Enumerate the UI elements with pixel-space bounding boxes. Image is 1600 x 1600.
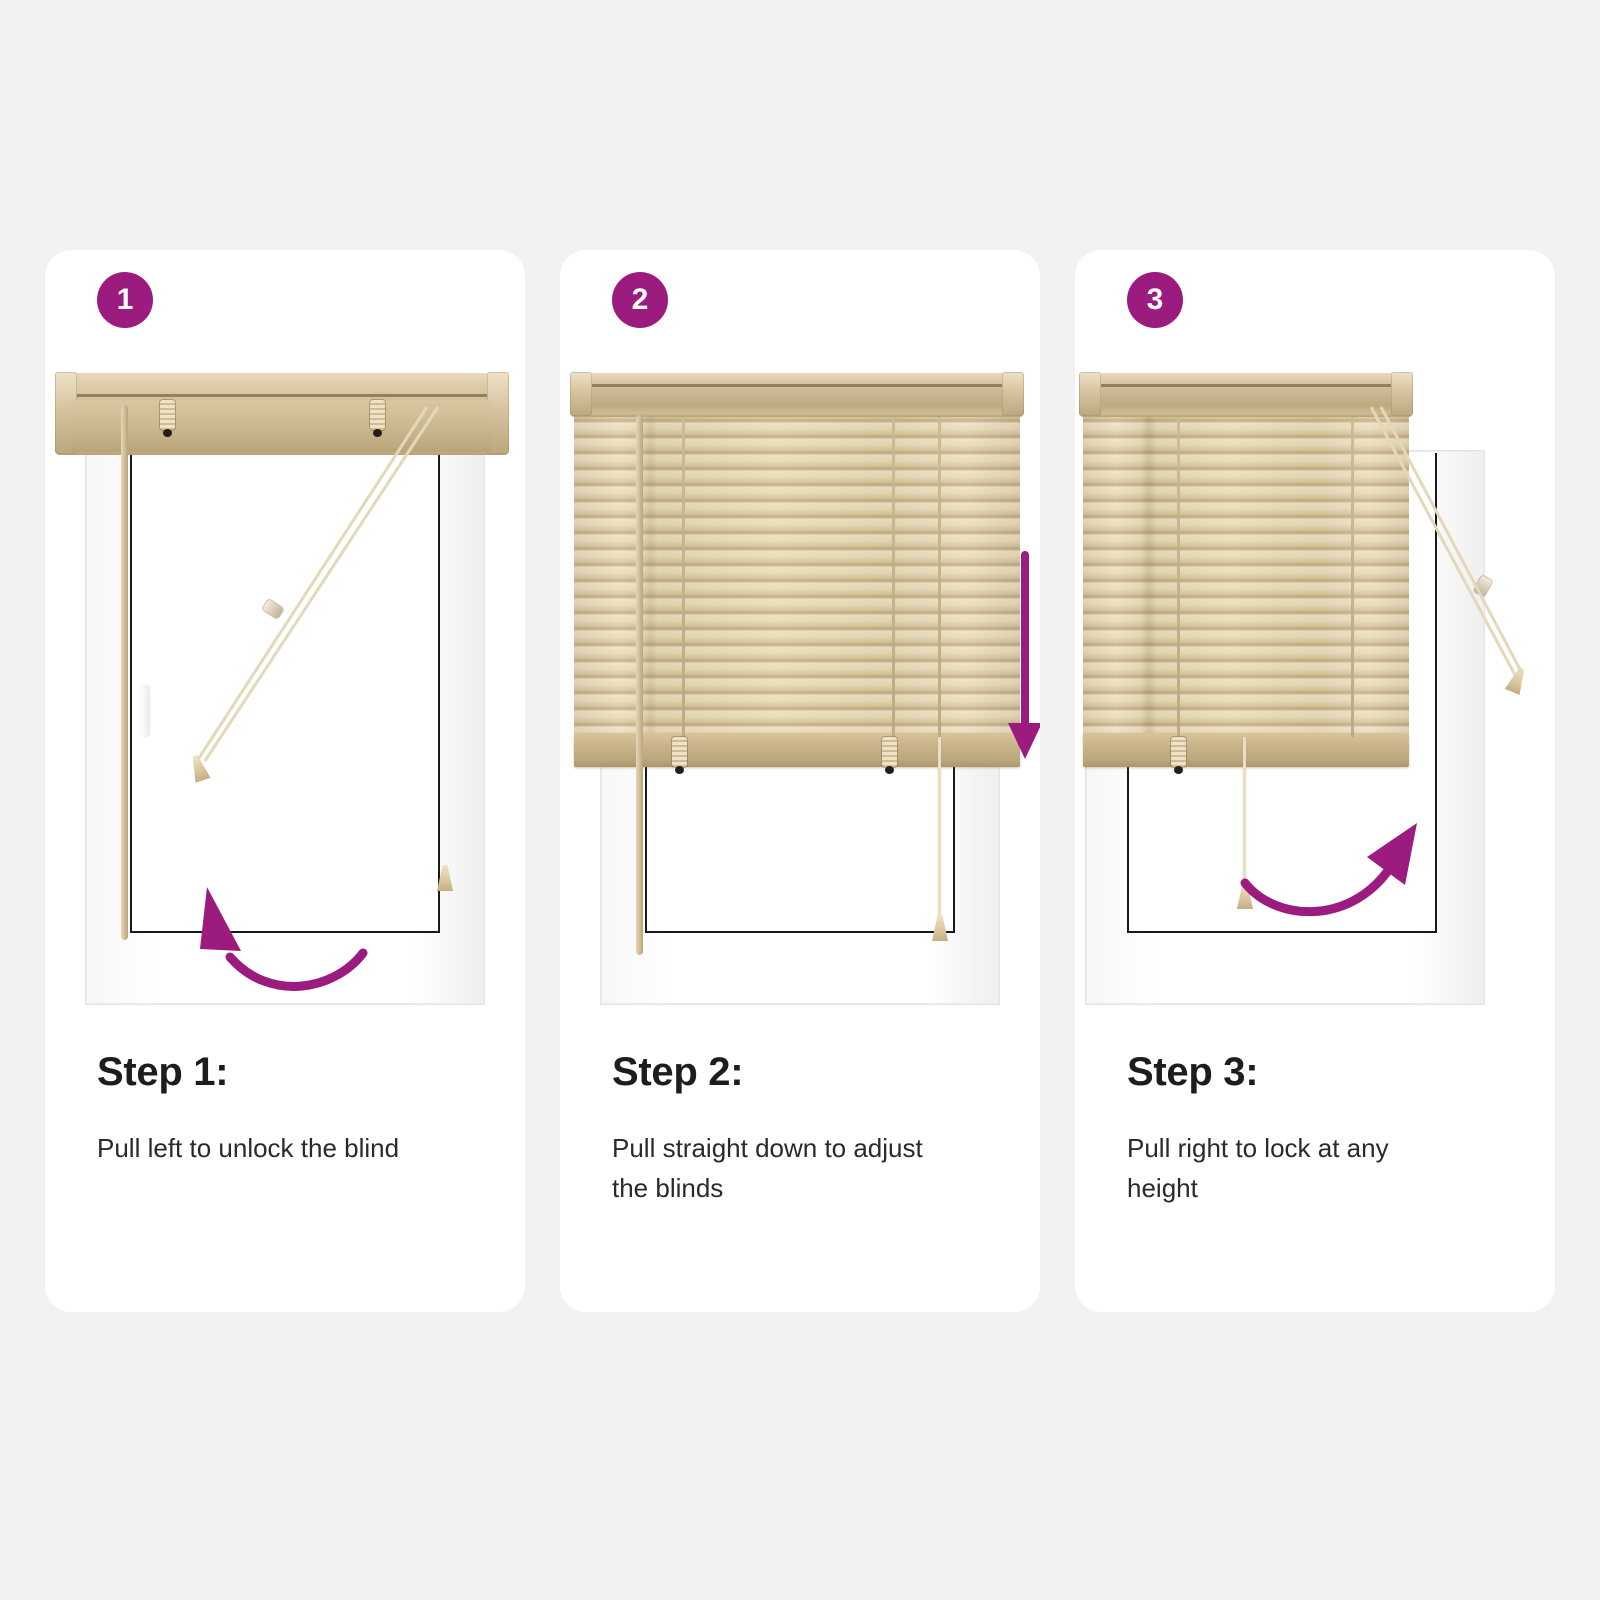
step-badge-3: 3 xyxy=(1127,272,1183,328)
step-badge-1: 1 xyxy=(97,272,153,328)
caption-step-3: Step 3: Pull right to lock at any height xyxy=(1127,1050,1515,1208)
step-card-row: 1 xyxy=(45,250,1555,1312)
step-card-3[interactable]: 3 xyxy=(1075,250,1555,1312)
illustration-step-2 xyxy=(560,345,1040,1025)
step-body-3: Pull right to lock at any height xyxy=(1127,1129,1457,1208)
caption-step-1: Step 1: Pull left to unlock the blind xyxy=(97,1050,485,1169)
instruction-board: 1 xyxy=(0,0,1600,1600)
curved-arrow-right-icon xyxy=(1075,345,1545,1025)
step-card-2[interactable]: 2 xyxy=(560,250,1040,1312)
step-body-1: Pull left to unlock the blind xyxy=(97,1129,427,1169)
illustration-step-3 xyxy=(1075,345,1555,1025)
step-title-3: Step 3: xyxy=(1127,1050,1515,1095)
step-card-1[interactable]: 1 xyxy=(45,250,525,1312)
illustration-step-1 xyxy=(45,345,525,1025)
step-body-2: Pull straight down to adjust the blinds xyxy=(612,1129,942,1208)
step-title-1: Step 1: xyxy=(97,1050,485,1095)
step-badge-2: 2 xyxy=(612,272,668,328)
caption-step-2: Step 2: Pull straight down to adjust the… xyxy=(612,1050,1000,1208)
straight-arrow-down-icon xyxy=(560,345,1030,1025)
curved-arrow-left-icon xyxy=(45,345,515,1025)
step-title-2: Step 2: xyxy=(612,1050,1000,1095)
